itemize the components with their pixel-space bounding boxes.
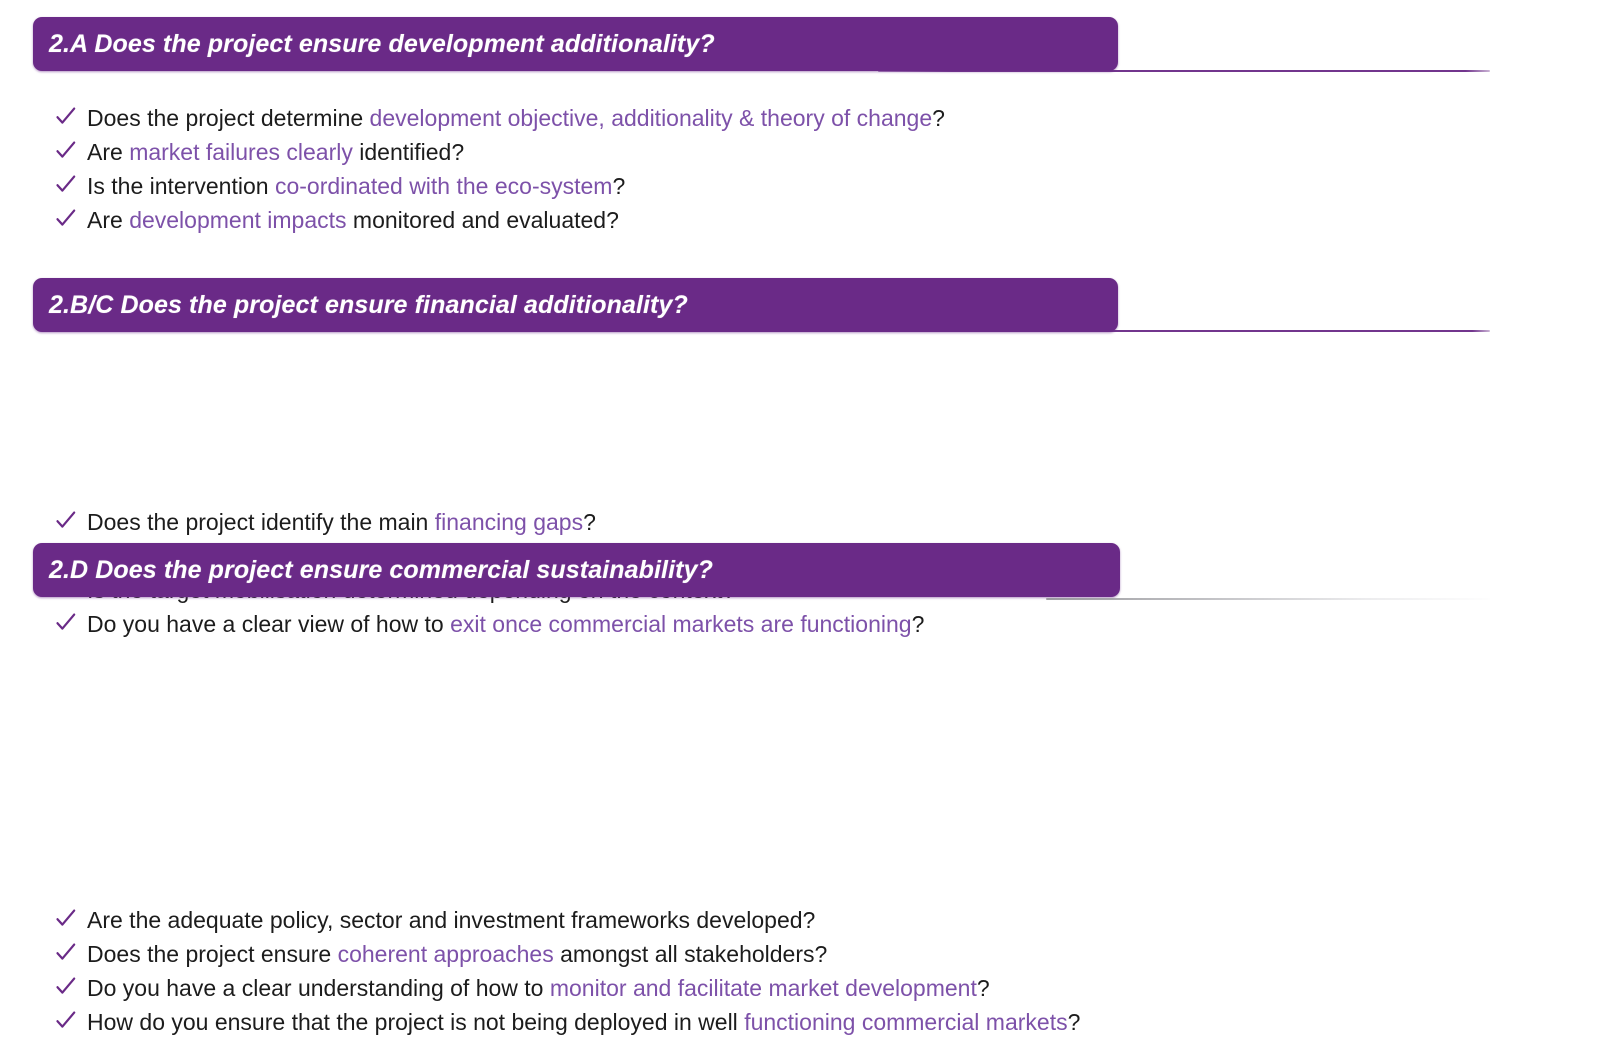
checklist-item: How do you ensure that the project is no… xyxy=(0,1008,1600,1042)
checklist-item-label: Does the project ensure coherent approac… xyxy=(87,940,827,968)
highlighted-phrase: market failures clearly xyxy=(129,139,353,165)
section-heading: 2.D Does the project ensure commercial s… xyxy=(49,556,713,585)
check-icon xyxy=(55,612,79,638)
plain-phrase: identified? xyxy=(353,139,464,165)
checklist-2d: Are the adequate policy, sector and inve… xyxy=(0,906,1600,1042)
plain-phrase: Do you have a clear understanding of how… xyxy=(87,975,550,1001)
highlighted-phrase: exit once commercial markets are functio… xyxy=(450,611,911,637)
checklist-item: Do you have a clear view of how to exit … xyxy=(0,610,1600,644)
highlighted-phrase: development impacts xyxy=(129,207,346,233)
check-icon xyxy=(55,174,79,200)
plain-phrase: Are xyxy=(87,207,129,233)
checklist-item: Are market failures clearly identified? xyxy=(0,138,1600,172)
plain-phrase: ? xyxy=(612,173,625,199)
checklist-item: Are the adequate policy, sector and inve… xyxy=(0,906,1600,940)
check-icon xyxy=(55,976,79,1002)
plain-phrase: amongst all stakeholders? xyxy=(554,941,828,967)
section-banner: 2.B/C Does the project ensure financial … xyxy=(33,278,1118,332)
highlighted-phrase: monitor and facilitate market developmen… xyxy=(550,975,977,1001)
checklist-item-label: Are development impacts monitored and ev… xyxy=(87,206,619,234)
check-icon xyxy=(55,1010,79,1036)
section-underline-rule xyxy=(1046,598,1490,600)
check-icon xyxy=(55,208,79,234)
checklist-item: Does the project identify the main finan… xyxy=(0,508,1600,542)
section-heading: 2.A Does the project ensure development … xyxy=(49,30,715,59)
section-underline-rule xyxy=(1046,330,1490,332)
section-banner: 2.D Does the project ensure commercial s… xyxy=(33,543,1120,597)
check-icon xyxy=(55,510,79,536)
plain-phrase: Does the project determine xyxy=(87,105,370,131)
checklist-item: Does the project ensure coherent approac… xyxy=(0,940,1600,974)
plain-phrase: Are xyxy=(87,139,129,165)
highlighted-phrase: co-ordinated with the eco-system xyxy=(275,173,613,199)
checklist-2a: Does the project determine development o… xyxy=(0,104,1600,240)
plain-phrase: ? xyxy=(932,105,945,131)
plain-phrase: ? xyxy=(912,611,925,637)
plain-phrase: ? xyxy=(1068,1009,1081,1035)
section-underline-rule xyxy=(878,70,1490,72)
checklist-item: Does the project determine development o… xyxy=(0,104,1600,138)
plain-phrase: How do you ensure that the project is no… xyxy=(87,1009,744,1035)
plain-phrase: Is the intervention xyxy=(87,173,275,199)
checklist-item: Are development impacts monitored and ev… xyxy=(0,206,1600,240)
plain-phrase: ? xyxy=(583,509,596,535)
checklist-item-label: Do you have a clear understanding of how… xyxy=(87,974,990,1002)
highlighted-phrase: financing gaps xyxy=(435,509,583,535)
checklist-item-label: Does the project determine development o… xyxy=(87,104,945,132)
checklist-item-label: Does the project identify the main finan… xyxy=(87,508,596,536)
checklist-item-label: Are the adequate policy, sector and inve… xyxy=(87,906,815,934)
checklist-item-label: Are market failures clearly identified? xyxy=(87,138,464,166)
highlighted-phrase: functioning commercial markets xyxy=(744,1009,1067,1035)
slide-canvas: 2.A Does the project ensure development … xyxy=(0,0,1600,867)
plain-phrase: Does the project ensure xyxy=(87,941,338,967)
plain-phrase: Do you have a clear view of how to xyxy=(87,611,450,637)
check-icon xyxy=(55,106,79,132)
check-icon xyxy=(55,942,79,968)
section-heading: 2.B/C Does the project ensure financial … xyxy=(49,291,688,320)
highlighted-phrase: development objective, additionality & t… xyxy=(370,105,933,131)
checklist-item: Do you have a clear understanding of how… xyxy=(0,974,1600,1008)
check-icon xyxy=(55,140,79,166)
plain-phrase: monitored and evaluated? xyxy=(347,207,619,233)
plain-phrase: ? xyxy=(977,975,990,1001)
checklist-item-label: Do you have a clear view of how to exit … xyxy=(87,610,924,638)
checklist-item-label: How do you ensure that the project is no… xyxy=(87,1008,1080,1036)
plain-phrase: Does the project identify the main xyxy=(87,509,435,535)
checklist-item-label: Is the intervention co-ordinated with th… xyxy=(87,172,625,200)
highlighted-phrase: coherent approaches xyxy=(338,941,554,967)
check-icon xyxy=(55,908,79,934)
section-banner: 2.A Does the project ensure development … xyxy=(33,17,1118,71)
plain-phrase: Are the adequate policy, sector and inve… xyxy=(87,907,815,933)
checklist-item: Is the intervention co-ordinated with th… xyxy=(0,172,1600,206)
